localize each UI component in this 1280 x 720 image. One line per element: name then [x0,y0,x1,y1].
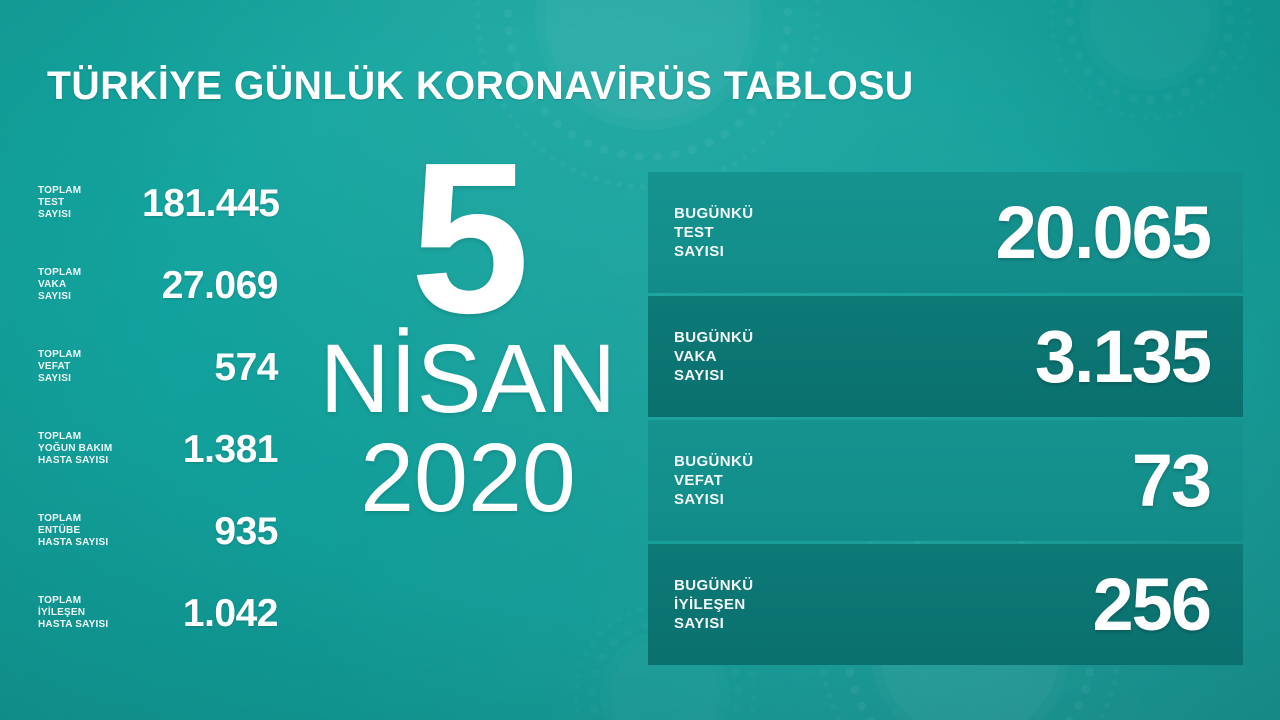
total-stat-deaths: TOPLAM VEFAT SAYISI 574 [38,326,278,408]
total-stat-value: 1.042 [142,594,278,633]
daily-label-line3: SAYISI [674,490,864,509]
daily-stat-label: BUGÜNKÜ İYİLEŞEN SAYISI [674,576,864,633]
daily-stat-recovered: BUGÜNKÜ İYİLEŞEN SAYISI 256 [648,544,1243,665]
total-stat-label: TOPLAM VEFAT SAYISI [38,349,142,385]
daily-stat-deaths: BUGÜNKÜ VEFAT SAYISI 73 [648,420,1243,541]
daily-label-line2: VAKA [674,347,864,366]
total-stat-test: TOPLAM TEST SAYISI 181.445 [38,162,278,244]
daily-stat-value: 256 [864,568,1210,642]
total-stat-recovered: TOPLAM İYİLEŞEN HASTA SAYISI 1.042 [38,572,278,654]
daily-label-line3: SAYISI [674,614,864,633]
total-stat-value: 181.445 [142,184,279,223]
total-label-line2: VAKA [38,279,142,291]
total-stat-label: TOPLAM VAKA SAYISI [38,267,142,303]
daily-label-line3: SAYISI [674,366,864,385]
total-label-line1: TOPLAM [38,431,142,443]
total-label-line2: İYİLEŞEN [38,607,142,619]
daily-statistics-panel: BUGÜNKÜ TEST SAYISI 20.065 BUGÜNKÜ VAKA … [648,172,1243,668]
total-label-line2: TEST [38,197,142,209]
daily-label-line1: BUGÜNKÜ [674,452,864,471]
daily-stat-value: 20.065 [864,196,1210,270]
date-month: NİSAN [308,330,628,429]
virus-watermark-icon [1090,0,1210,80]
total-stat-label: TOPLAM TEST SAYISI [38,185,142,221]
daily-label-line2: İYİLEŞEN [674,595,864,614]
total-label-line1: TOPLAM [38,267,142,279]
total-label-line1: TOPLAM [38,595,142,607]
daily-stat-value: 3.135 [864,320,1210,394]
daily-stat-value: 73 [864,444,1210,518]
total-label-line3: SAYISI [38,291,142,303]
date-day: 5 [308,150,628,326]
total-label-line3: HASTA SAYISI [38,619,142,631]
total-stat-intensive-care: TOPLAM YOĞUN BAKIM HASTA SAYISI 1.381 [38,408,278,490]
total-stat-cases: TOPLAM VAKA SAYISI 27.069 [38,244,278,326]
total-label-line1: TOPLAM [38,349,142,361]
daily-stat-cases: BUGÜNKÜ VAKA SAYISI 3.135 [648,296,1243,417]
daily-label-line2: VEFAT [674,471,864,490]
total-stat-label: TOPLAM ENTÜBE HASTA SAYISI [38,513,142,549]
date-year: 2020 [308,429,628,528]
total-stat-intubated: TOPLAM ENTÜBE HASTA SAYISI 935 [38,490,278,572]
daily-stat-test: BUGÜNKÜ TEST SAYISI 20.065 [648,172,1243,293]
total-stat-label: TOPLAM YOĞUN BAKIM HASTA SAYISI [38,431,142,467]
total-stat-value: 574 [142,348,278,387]
total-label-line1: TOPLAM [38,185,142,197]
daily-label-line1: BUGÜNKÜ [674,328,864,347]
page-title: TÜRKİYE GÜNLÜK KORONAVİRÜS TABLOSU [47,66,914,106]
total-label-line3: SAYISI [38,373,142,385]
daily-label-line1: BUGÜNKÜ [674,576,864,595]
daily-label-line3: SAYISI [674,242,864,261]
total-stat-value: 27.069 [142,266,278,305]
coronavirus-daily-table-infographic: TÜRKİYE GÜNLÜK KORONAVİRÜS TABLOSU TOPLA… [0,0,1280,720]
total-stat-label: TOPLAM İYİLEŞEN HASTA SAYISI [38,595,142,631]
daily-stat-label: BUGÜNKÜ VEFAT SAYISI [674,452,864,509]
total-label-line1: TOPLAM [38,513,142,525]
total-stat-value: 935 [142,512,278,551]
total-statistics-column: TOPLAM TEST SAYISI 181.445 TOPLAM VAKA S… [38,162,278,654]
total-label-line2: YOĞUN BAKIM [38,443,142,455]
total-stat-value: 1.381 [142,430,278,469]
date-block: 5 NİSAN 2020 [308,150,628,528]
daily-stat-label: BUGÜNKÜ VAKA SAYISI [674,328,864,385]
total-label-line2: ENTÜBE [38,525,142,537]
daily-stat-label: BUGÜNKÜ TEST SAYISI [674,204,864,261]
total-label-line3: SAYISI [38,209,142,221]
total-label-line3: HASTA SAYISI [38,455,142,467]
daily-label-line1: BUGÜNKÜ [674,204,864,223]
total-label-line3: HASTA SAYISI [38,537,142,549]
daily-label-line2: TEST [674,223,864,242]
total-label-line2: VEFAT [38,361,142,373]
